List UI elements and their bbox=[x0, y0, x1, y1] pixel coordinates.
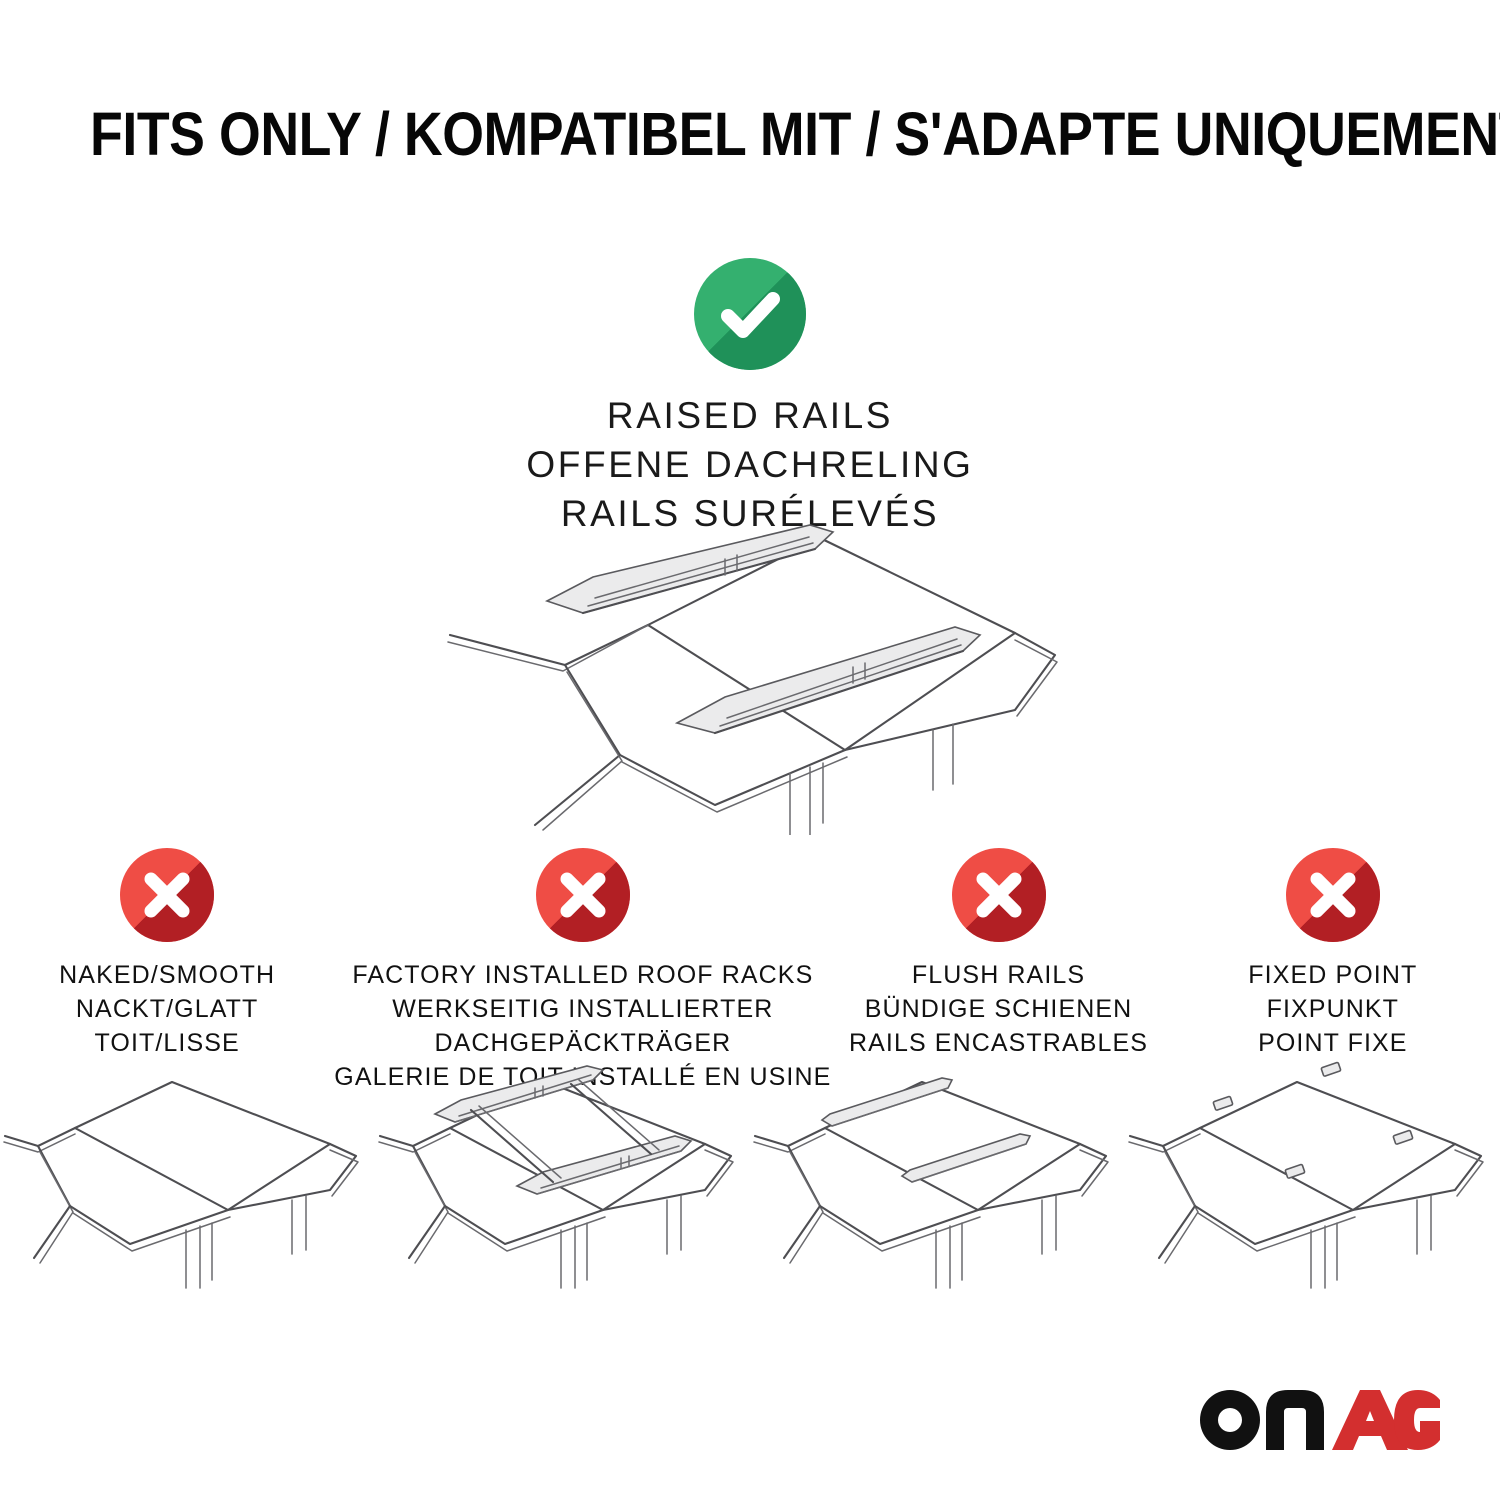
incompatible-line-de-1: WERKSEITIG INSTALLIERTER bbox=[334, 992, 831, 1026]
incompatible-item-naked-smooth: NAKED/SMOOTH NACKT/GLATT TOIT/LISSE bbox=[0, 848, 334, 1058]
cross-glyph bbox=[1286, 848, 1380, 942]
incompatible-drawings-row bbox=[0, 1058, 1500, 1298]
car-roof-fixed-point-drawing bbox=[1125, 1058, 1500, 1298]
page-title: FITS ONLY / KOMPATIBEL MIT / S'ADAPTE UN… bbox=[90, 104, 1410, 165]
compatible-line-en: RAISED RAILS bbox=[526, 392, 973, 441]
car-roof-factory-racks-svg bbox=[375, 1058, 750, 1298]
incompatible-line-de-2: DACHGEPÄCKTRÄGER bbox=[334, 1026, 831, 1060]
cross-icon bbox=[120, 848, 214, 942]
incompatible-line-en: FACTORY INSTALLED ROOF RACKS bbox=[334, 958, 831, 992]
check-icon bbox=[694, 258, 806, 370]
cross-icon bbox=[952, 848, 1046, 942]
car-roof-flush-rails-svg bbox=[750, 1058, 1125, 1298]
car-roof-raised-rails-svg bbox=[415, 505, 1085, 835]
compatible-line-de: OFFENE DACHRELING bbox=[526, 441, 973, 490]
incompatible-line-de: BÜNDIGE SCHIENEN bbox=[849, 992, 1148, 1026]
omac-logo-svg bbox=[1198, 1388, 1440, 1452]
car-roof-naked-smooth-drawing bbox=[0, 1058, 375, 1298]
compatible-section: RAISED RAILS OFFENE DACHRELING RAILS SUR… bbox=[0, 258, 1500, 538]
omac-logo-letter-m bbox=[1266, 1390, 1324, 1450]
omac-logo-letter-o bbox=[1200, 1390, 1260, 1450]
cross-glyph bbox=[952, 848, 1046, 942]
car-roof-flush-rails-drawing bbox=[750, 1058, 1125, 1298]
incompatible-line-de: NACKT/GLATT bbox=[59, 992, 275, 1026]
car-roof-naked-smooth-svg bbox=[0, 1058, 375, 1298]
check-glyph bbox=[694, 258, 806, 370]
cross-icon bbox=[1286, 848, 1380, 942]
omac-logo-letter-c bbox=[1394, 1390, 1440, 1450]
incompatible-caption: FIXED POINT FIXPUNKT POINT FIXE bbox=[1248, 958, 1417, 1060]
incompatible-item-fixed-point: FIXED POINT FIXPUNKT POINT FIXE bbox=[1166, 848, 1500, 1058]
incompatible-line-en: FIXED POINT bbox=[1248, 958, 1417, 992]
car-roof-raised-rails-drawing bbox=[415, 505, 1085, 835]
car-roof-fixed-point-svg bbox=[1125, 1058, 1500, 1298]
incompatible-caption: NAKED/SMOOTH NACKT/GLATT TOIT/LISSE bbox=[59, 958, 275, 1060]
incompatible-line-fr: RAILS ENCASTRABLES bbox=[849, 1026, 1148, 1060]
omac-logo bbox=[1198, 1388, 1440, 1452]
incompatible-line-fr: POINT FIXE bbox=[1248, 1026, 1417, 1060]
cross-icon bbox=[536, 848, 630, 942]
incompatible-line-en: FLUSH RAILS bbox=[849, 958, 1148, 992]
car-roof-factory-racks-drawing bbox=[375, 1058, 750, 1298]
incompatible-line-en: NAKED/SMOOTH bbox=[59, 958, 275, 992]
cross-glyph bbox=[536, 848, 630, 942]
incompatible-line-de: FIXPUNKT bbox=[1248, 992, 1417, 1026]
incompatible-line-fr: TOIT/LISSE bbox=[59, 1026, 275, 1060]
cross-glyph bbox=[120, 848, 214, 942]
incompatible-item-flush-rails: FLUSH RAILS BÜNDIGE SCHIENEN RAILS ENCAS… bbox=[831, 848, 1165, 1058]
incompatible-section: NAKED/SMOOTH NACKT/GLATT TOIT/LISSE FACT… bbox=[0, 848, 1500, 1058]
incompatible-item-factory-racks: FACTORY INSTALLED ROOF RACKS WERKSEITIG … bbox=[334, 848, 831, 1058]
incompatible-caption: FLUSH RAILS BÜNDIGE SCHIENEN RAILS ENCAS… bbox=[849, 958, 1148, 1060]
